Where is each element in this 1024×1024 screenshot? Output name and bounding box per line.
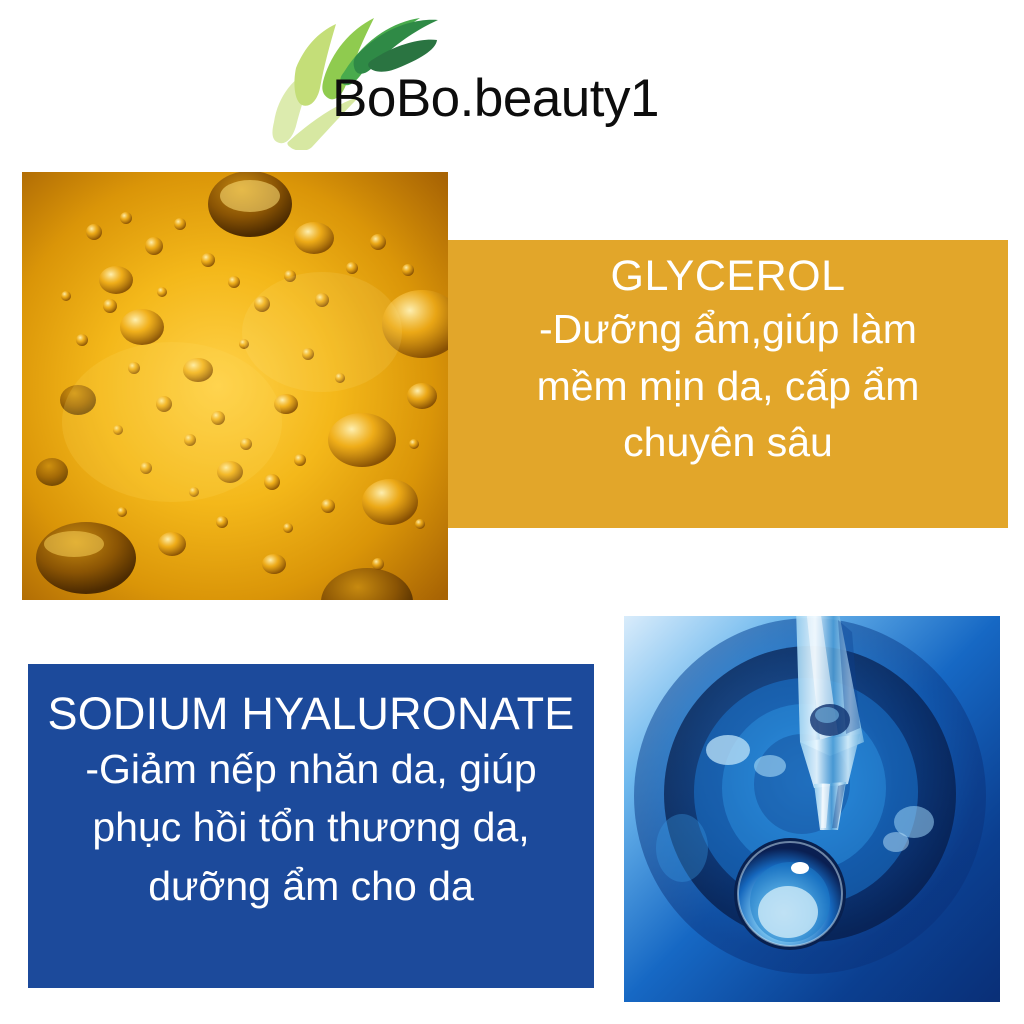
glycerol-heading: GLYCEROL (611, 251, 846, 301)
sodium-hyaluronate-line-3: dưỡng ẩm cho da (148, 857, 474, 915)
sodium-hyaluronate-line-1: -Giảm nếp nhăn da, giúp (85, 740, 536, 798)
glycerol-info-card: GLYCEROL -Dưỡng ẩm,giúp làm mềm mịn da, … (448, 240, 1008, 528)
blue-dropper-serum-photo (624, 616, 1000, 1002)
brand-logo-lockup: BoBo.beauty1 (268, 10, 708, 150)
sodium-hyaluronate-info-card: SODIUM HYALURONATE -Giảm nếp nhăn da, gi… (28, 664, 594, 988)
brand-header: BoBo.beauty1 (0, 0, 1024, 160)
sodium-hyaluronate-line-2: phục hồi tổn thương da, (92, 798, 529, 856)
sodium-hyaluronate-heading: SODIUM HYALURONATE (48, 688, 575, 740)
golden-oil-bubbles-photo (22, 172, 448, 600)
brand-wordmark: BoBo.beauty1 (332, 72, 659, 125)
glycerol-line-2: mềm mịn da, cấp ẩm (537, 358, 920, 415)
glycerol-line-1: -Dưỡng ẩm,giúp làm (539, 301, 917, 358)
glycerol-line-3: chuyên sâu (623, 414, 833, 471)
